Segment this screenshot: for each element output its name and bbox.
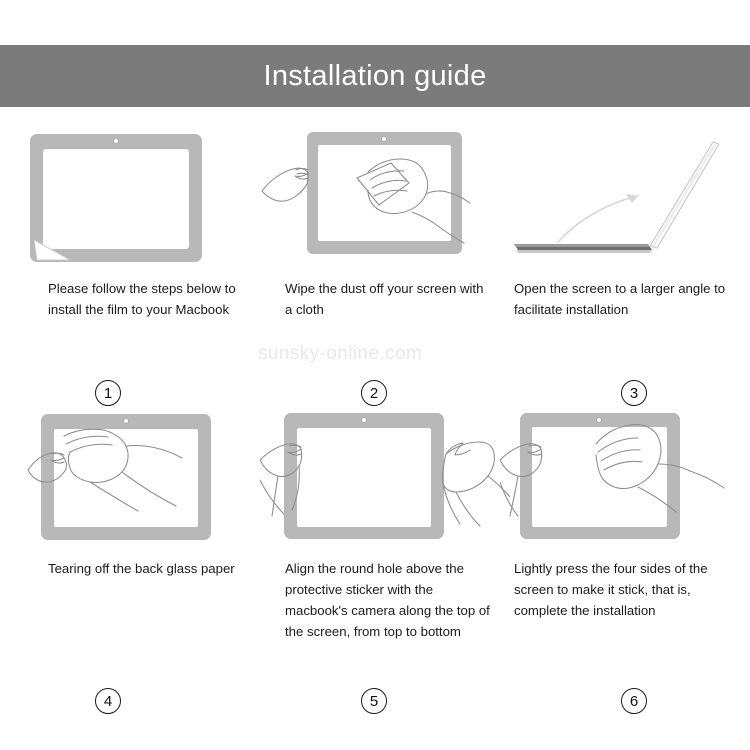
step-number-badge: 2 xyxy=(361,380,387,406)
step-1: Please follow the steps below to install… xyxy=(0,128,250,320)
step-1-caption: Please follow the steps below to install… xyxy=(0,278,250,320)
step-2-number-wrap: 2 xyxy=(249,380,499,406)
step-1-number-wrap: 1 xyxy=(0,380,233,406)
header-bar: Installation guide xyxy=(0,45,750,107)
steps-row-2: Tearing off the back glass paper 4 xyxy=(0,408,750,642)
step-5: Align the round hole above the protectiv… xyxy=(250,408,500,642)
step-6-number-wrap: 6 xyxy=(509,688,750,714)
step-4-caption: Tearing off the back glass paper xyxy=(0,558,250,579)
step-number-badge: 6 xyxy=(621,688,647,714)
step-6: Lightly press the four sides of the scre… xyxy=(500,408,750,642)
step-2: Wipe the dust off your screen with a clo… xyxy=(250,128,500,320)
step-5-number-wrap: 5 xyxy=(249,688,499,714)
step-5-caption: Align the round hole above the protectiv… xyxy=(250,558,500,642)
step-number-badge: 5 xyxy=(361,688,387,714)
step-4-number-wrap: 4 xyxy=(0,688,233,714)
step-6-illustration xyxy=(500,408,750,548)
watermark-text: sunsky-online.com xyxy=(258,343,422,365)
page-title: Installation guide xyxy=(263,62,486,91)
step-3-illustration xyxy=(500,128,750,268)
step-6-caption: Lightly press the four sides of the scre… xyxy=(500,558,750,621)
step-1-illustration xyxy=(0,128,276,268)
step-3-number-wrap: 3 xyxy=(509,380,750,406)
step-4-illustration xyxy=(0,408,276,548)
installation-guide-page: Installation guide sunsky-online.com xyxy=(0,0,750,750)
step-number-badge: 4 xyxy=(95,688,121,714)
step-4: Tearing off the back glass paper 4 xyxy=(0,408,250,642)
steps-row-1: Please follow the steps below to install… xyxy=(0,128,750,320)
step-3: Open the screen to a larger angle to fac… xyxy=(500,128,750,320)
step-3-caption: Open the screen to a larger angle to fac… xyxy=(500,278,750,320)
step-2-illustration xyxy=(250,128,510,268)
step-number-badge: 3 xyxy=(621,380,647,406)
step-number-badge: 1 xyxy=(95,380,121,406)
step-2-caption: Wipe the dust off your screen with a clo… xyxy=(250,278,500,320)
step-5-illustration xyxy=(250,408,510,548)
